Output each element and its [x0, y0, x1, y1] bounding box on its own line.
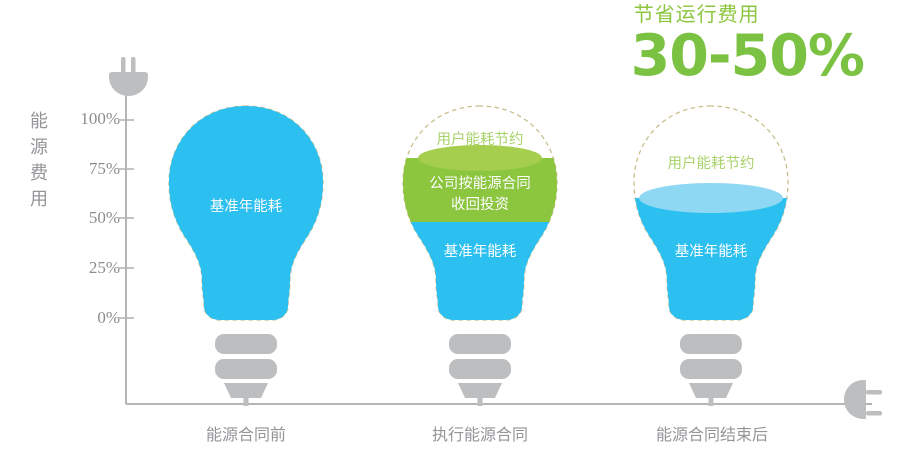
blue-liquid-surface: [639, 183, 783, 213]
bulb-before-contract[interactable]: [156, 106, 336, 406]
x-label-during-contract: 执行能源合同: [410, 421, 550, 445]
bulb-base: [680, 334, 742, 406]
x-label-before-contract: 能源合同前: [176, 421, 316, 445]
bulb3-savings-label: 用户能耗节约: [651, 152, 771, 173]
chart-svg: [0, 0, 900, 473]
plug-icon: [844, 380, 882, 419]
bulb2-savings-label: 用户能耗节约: [420, 128, 540, 149]
bulb2-recovery-label-line1: 公司按能源合同: [410, 174, 550, 195]
bulb3-baseline-label: 基准年能耗: [651, 242, 771, 263]
y-axis: [118, 88, 134, 404]
bulb-base: [449, 334, 511, 406]
x-label-after-contract: 能源合同结束后: [637, 421, 787, 445]
bulb2-recovery-label-line2: 收回投资: [410, 195, 550, 216]
bulb-base: [215, 334, 277, 406]
bulb-fill-blue: [390, 222, 570, 322]
infographic-canvas: 节省运行费用 30-50% 能 源 费 用 100% 75% 50% 25% 0…: [0, 0, 900, 473]
bulb1-baseline-label: 基准年能耗: [186, 197, 306, 218]
plug-prong-icon: [109, 57, 148, 96]
bulb2-baseline-label: 基准年能耗: [420, 242, 540, 263]
